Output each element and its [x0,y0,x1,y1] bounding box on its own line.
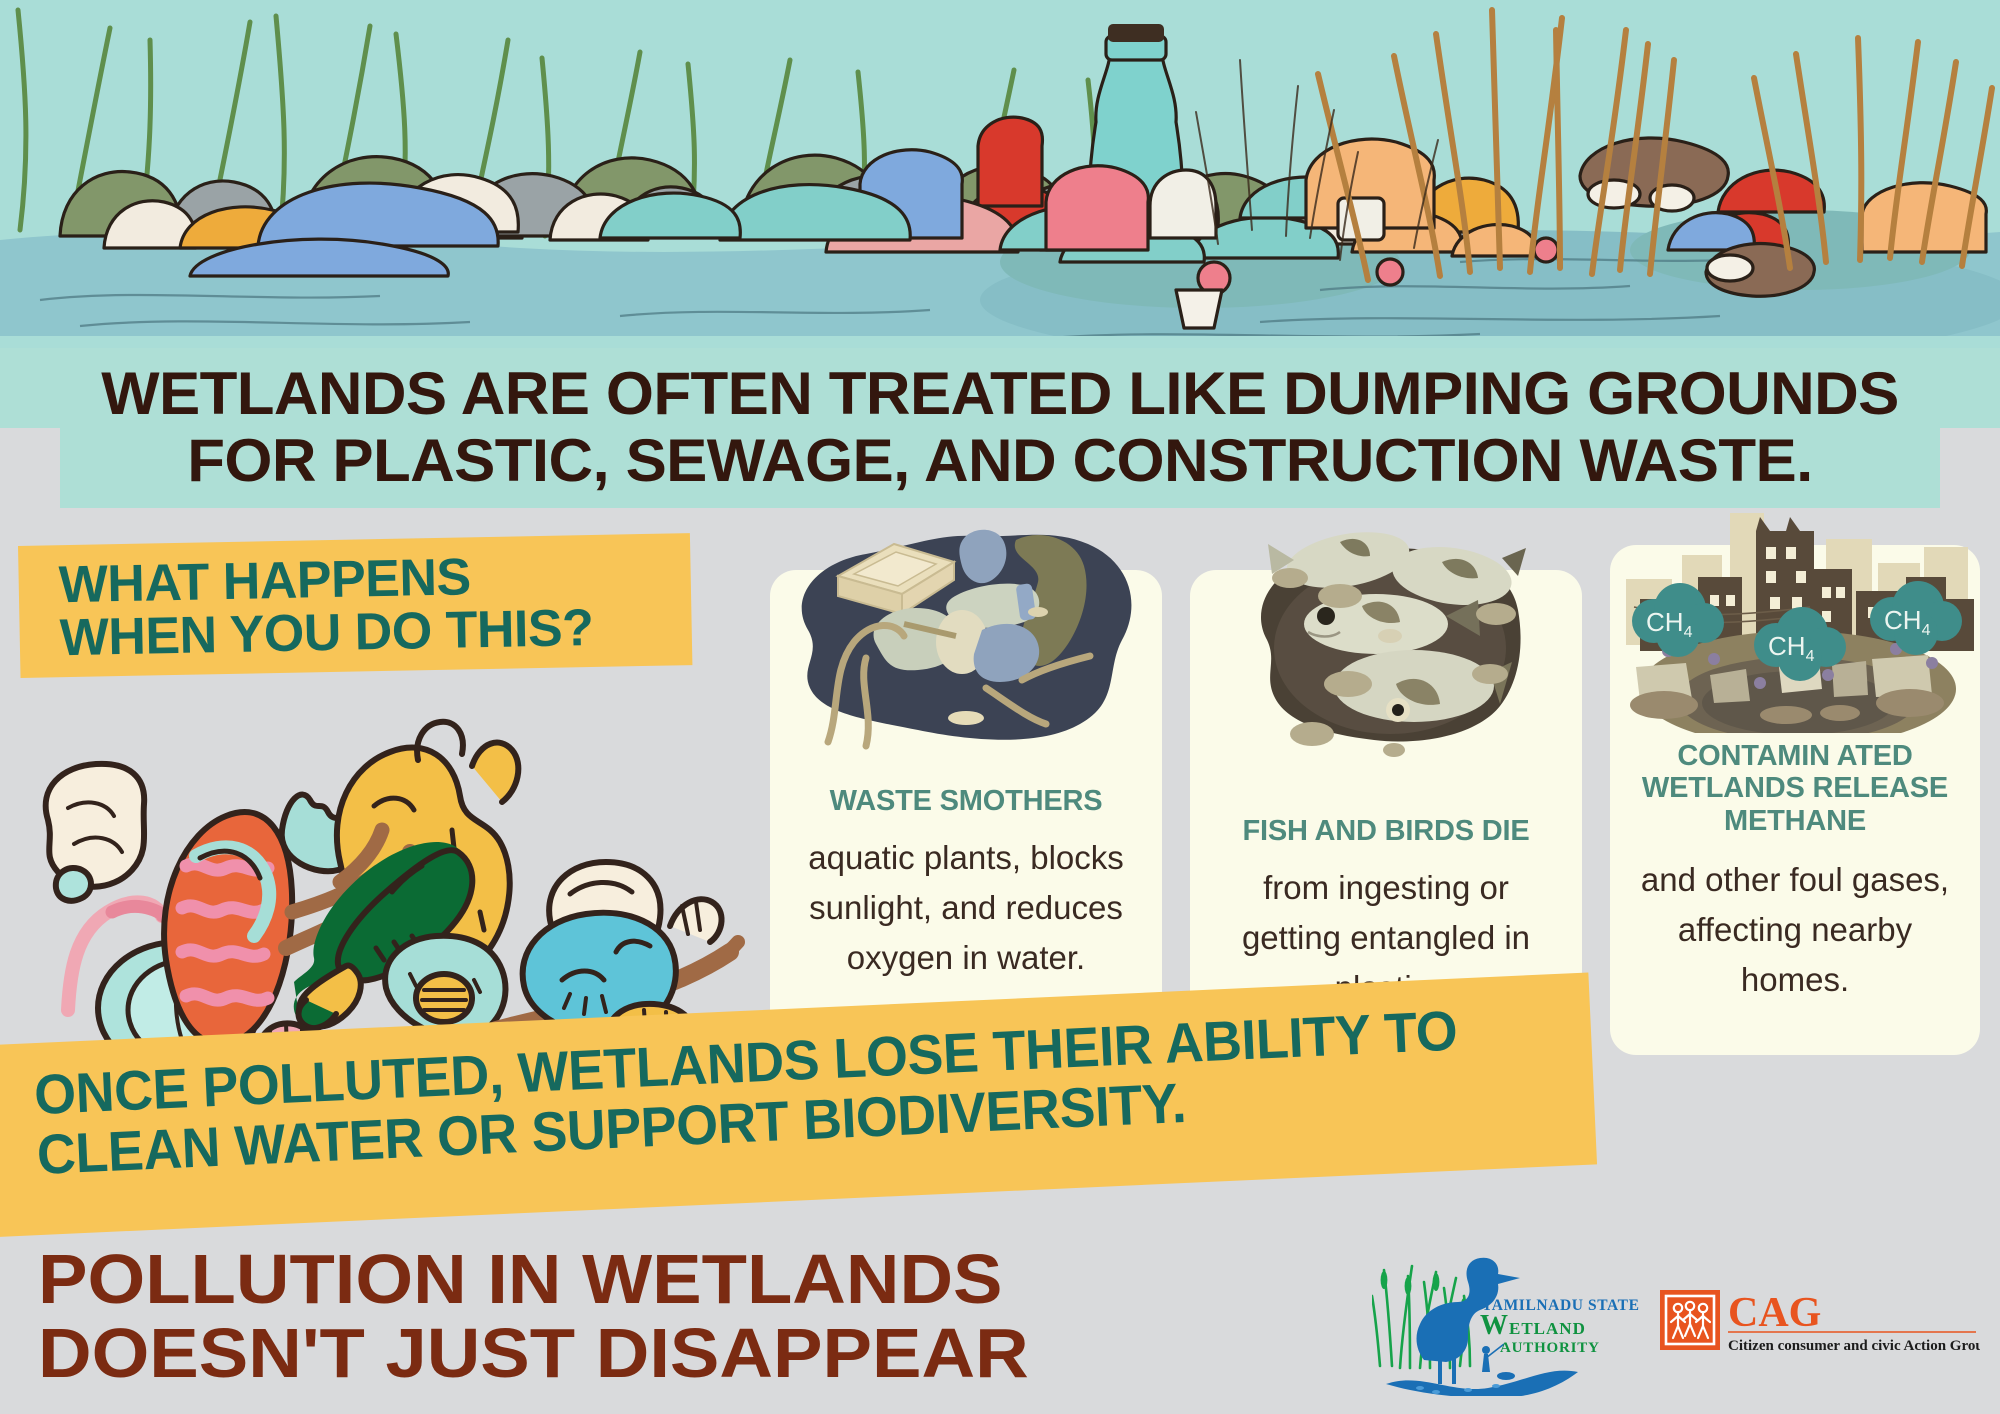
cag-acronym: CAG [1728,1290,1821,1336]
infographic-poster: WETLANDS ARE OFTEN TREATED LIKE DUMPING … [0,0,2000,1414]
tamilnadu-state-wetland-authority-logo: TAMILNADU STATE WETLAND AUTHORITY [1372,1248,1642,1396]
what-happens-tag: WHAT HAPPENS WHEN YOU DO THIS? [18,533,692,678]
headline-band: WETLANDS ARE OFTEN TREATED LIKE DUMPING … [0,348,2000,508]
card-3-artwork: CH4 CH4 CH4 [1610,503,1980,733]
hero-artwork [0,0,2000,352]
band-notch-left [0,428,60,508]
tnswa-line-3: AUTHORITY [1500,1340,1600,1356]
dead-fish-artwork [1190,518,1582,758]
what-happens-line-2: WHEN YOU DO THIS? [59,600,682,665]
methane-city-artwork: CH4 CH4 CH4 [1610,503,1980,733]
info-card-contaminated-methane: CH4 CH4 CH4 CONTAMIN ATED WETLANDS RELEA… [1610,545,1980,1055]
info-card-waste-smothers: WASTE SMOTHERS aquatic plants, blocks su… [770,570,1162,1055]
hero-illustration [0,0,2000,352]
cag-logo-artwork: CAG Citizen consumer and civic Action Gr… [1660,1286,1980,1356]
bottom-headline-line-1: POLLUTION IN WETLANDS [38,1243,1448,1317]
band-notch-right [1940,428,2000,508]
card-3-title: CONTAMIN ATED WETLANDS RELEASE METHANE [1624,740,1966,837]
bottom-headline: POLLUTION IN WETLANDS DOESN'T JUST DISAP… [38,1243,1448,1390]
info-card-fish-and-birds-die: FISH AND BIRDS DIE from ingesting or get… [1190,570,1582,1030]
bottom-headline-line-2: DOESN'T JUST DISAPPEAR [38,1317,1448,1391]
cag-logo: CAG Citizen consumer and civic Action Gr… [1660,1286,1980,1356]
card-1-body: aquatic plants, blocks sunlight, and red… [794,833,1138,983]
cag-tagline: Citizen consumer and civic Action Group [1728,1338,1980,1354]
tnswa-logo-artwork: TAMILNADU STATE WETLAND AUTHORITY [1372,1248,1642,1396]
headline-line-2: FOR PLASTIC, SEWAGE, AND CONSTRUCTION WA… [0,427,2000,494]
what-happens-text: WHAT HAPPENS WHEN YOU DO THIS? [58,547,682,665]
tnswa-line-2: WETLAND [1480,1310,1586,1341]
sludge-waste-artwork [770,518,1162,758]
page-title: WETLANDS ARE OFTEN TREATED LIKE DUMPING … [0,360,2000,494]
card-3-body: and other foul gases, affecting nearby h… [1634,855,1956,1005]
card-2-artwork [1190,518,1582,758]
card-1-title: WASTE SMOTHERS [784,785,1148,817]
card-1-artwork [770,518,1162,758]
card-2-title: FISH AND BIRDS DIE [1204,815,1568,847]
headline-line-1: WETLANDS ARE OFTEN TREATED LIKE DUMPING … [0,360,2000,427]
